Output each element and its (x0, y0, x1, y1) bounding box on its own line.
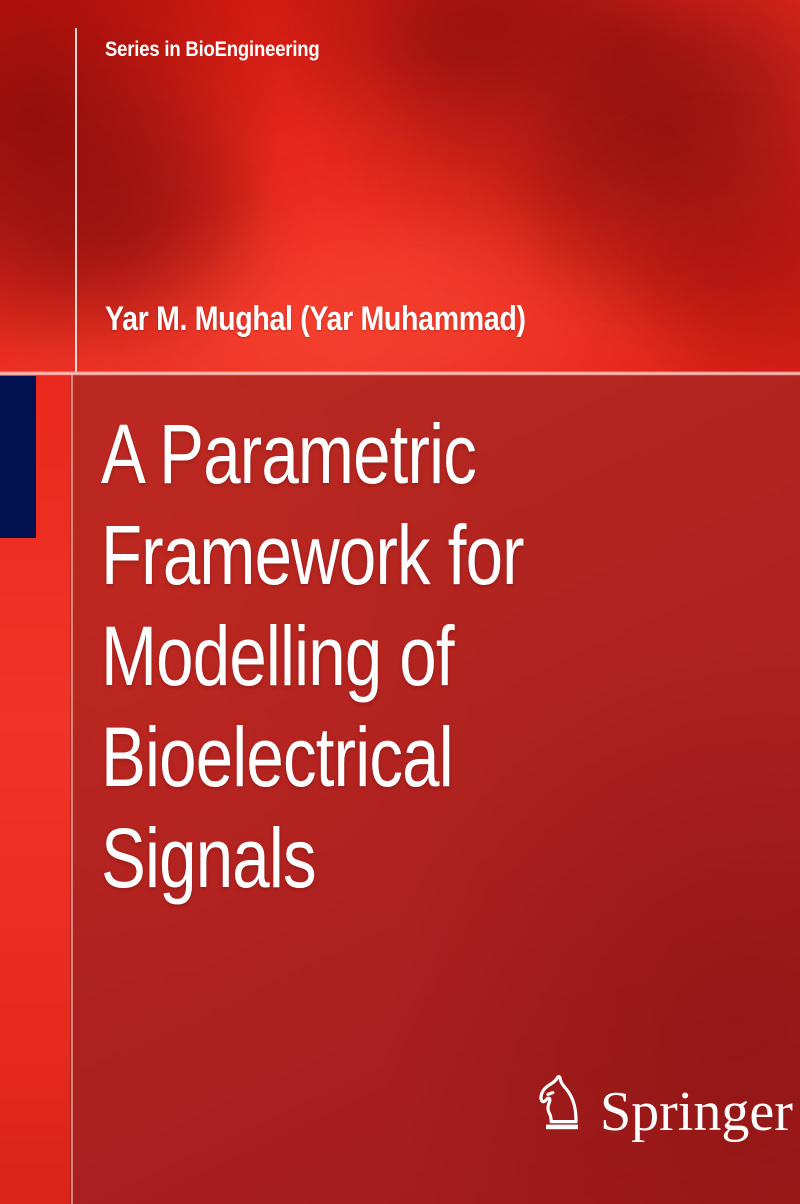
page-title: A Parametric Framework for Modelling of … (101, 404, 701, 909)
title-line: Framework for (101, 505, 581, 606)
spine-divider-line (71, 374, 73, 1204)
book-cover: Series in BioEngineering Yar M. Mughal (… (0, 0, 800, 1204)
header-divider-rule (0, 371, 800, 376)
publisher-name: Springer (600, 1084, 793, 1140)
series-title: Series in BioEngineering (105, 38, 320, 62)
logo-base-bar (546, 1125, 578, 1130)
title-line: A Parametric (101, 404, 581, 505)
header-vertical-rule (75, 28, 77, 372)
springer-knight-icon (536, 1072, 588, 1136)
title-line: Signals (101, 808, 581, 909)
title-line: Modelling of (101, 606, 581, 707)
publisher-logo: Springer (536, 1072, 793, 1136)
title-line: Bioelectrical (101, 707, 581, 808)
author-name: Yar M. Mughal (Yar Muhammad) (105, 300, 526, 339)
navy-accent-block (0, 376, 36, 538)
